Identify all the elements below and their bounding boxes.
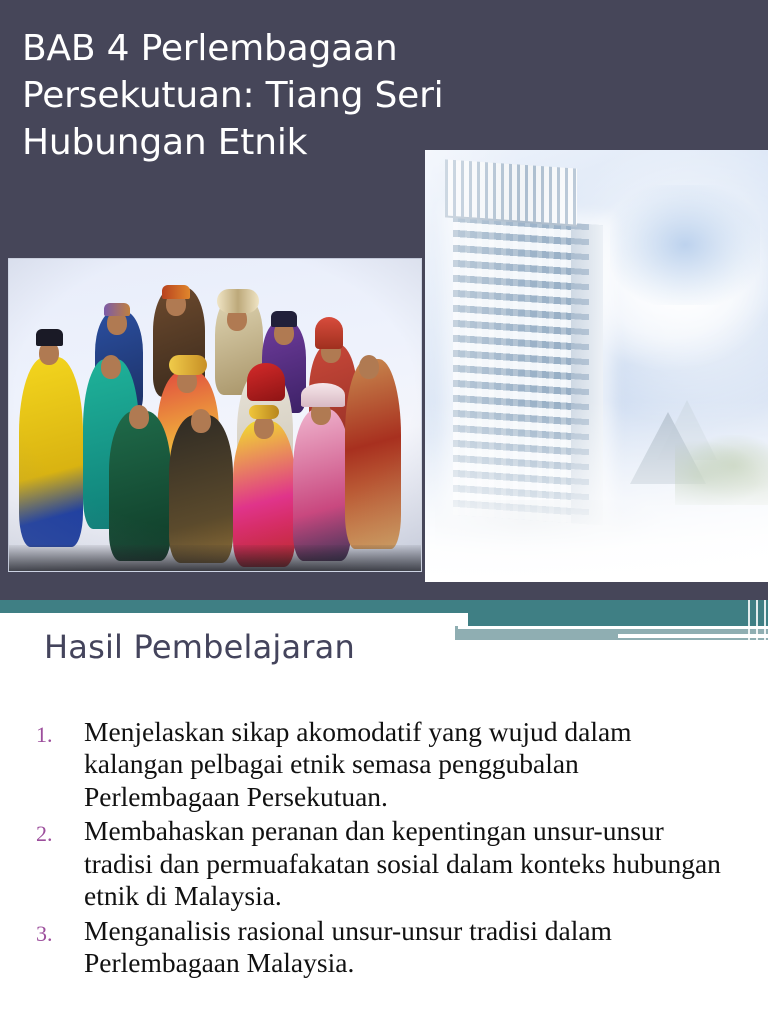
- tower-rooftop-crown: [445, 159, 577, 226]
- banner-stripe-teal-right: [455, 600, 768, 626]
- banner-vertical-line-1: [748, 600, 750, 642]
- list-item: 1. Menjelaskan sikap akomodatif yang wuj…: [36, 716, 736, 813]
- banner-vertical-line-3: [764, 600, 766, 642]
- tower-side-windows: [571, 223, 589, 524]
- learning-outcomes-list: 1. Menjelaskan sikap akomodatif yang wuj…: [36, 716, 736, 982]
- banner-notch: [428, 613, 468, 626]
- group-photo-traditional-malaysian-costumes: [8, 258, 422, 572]
- slide-title: BAB 4 Perlembagaan Persekutuan: Tiang Se…: [22, 26, 582, 166]
- sky-patch: [610, 185, 760, 305]
- list-item-text: Membahaskan peranan dan kepentingan unsu…: [84, 815, 736, 912]
- banner-divider-line-2: [618, 634, 768, 638]
- office-tower-building-photo: [425, 150, 768, 582]
- list-item-text: Menganalisis rasional unsur-unsur tradis…: [84, 915, 736, 980]
- list-item-number: 1.: [36, 716, 84, 748]
- tower-body: [453, 215, 603, 525]
- banner-divider-line-1: [458, 626, 768, 629]
- banner-vertical-line-2: [756, 600, 758, 642]
- list-item-text: Menjelaskan sikap akomodatif yang wujud …: [84, 716, 736, 813]
- list-item-number: 2.: [36, 815, 84, 847]
- slide: BAB 4 Perlembagaan Persekutuan: Tiang Se…: [0, 0, 768, 1024]
- ground-shadow: [435, 500, 665, 560]
- rooftop-fins: [445, 159, 577, 224]
- tower-facade-windows: [453, 215, 571, 523]
- trees-foliage: [675, 435, 768, 505]
- content-heading: Hasil Pembelajaran: [44, 628, 355, 666]
- photo-vignette: [9, 259, 421, 571]
- list-item: 3. Menganalisis rasional unsur-unsur tra…: [36, 915, 736, 980]
- list-item: 2. Membahaskan peranan dan kepentingan u…: [36, 815, 736, 912]
- list-item-number: 3.: [36, 915, 84, 947]
